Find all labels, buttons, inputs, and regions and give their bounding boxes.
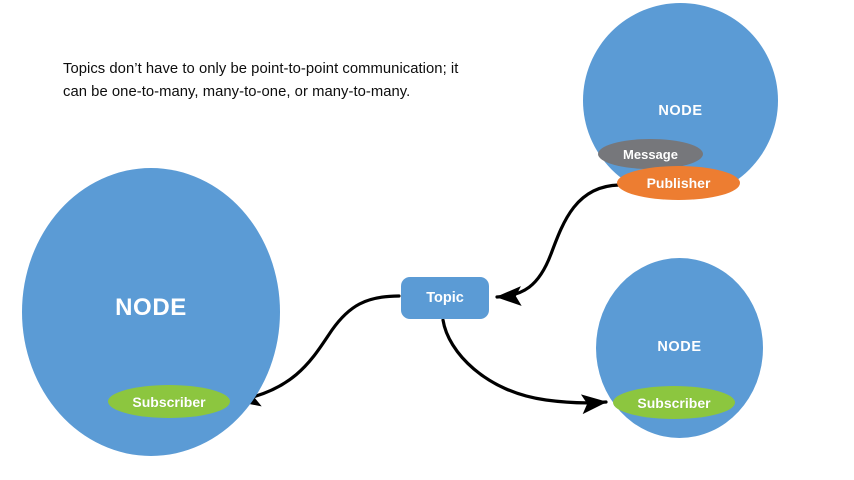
node-label-left: NODE [22,294,280,322]
caption-text: Topics don’t have to only be point-to-po… [63,58,483,104]
topic-box[interactable]: Topic [401,277,489,319]
subscriber-pill-left[interactable]: Subscriber [108,385,230,418]
publisher-pill[interactable]: Publisher [617,166,740,200]
message-pill[interactable]: Message [598,139,703,169]
connector-publisher-to-topic [497,185,619,297]
slide-canvas: Topics don’t have to only be point-to-po… [0,0,854,480]
node-label-top-right: NODE [583,103,778,119]
node-label-bottom-right: NODE [596,339,763,355]
subscriber-pill-bottom-right[interactable]: Subscriber [613,386,735,419]
connector-topic-to-subscriber-botright [443,320,606,403]
